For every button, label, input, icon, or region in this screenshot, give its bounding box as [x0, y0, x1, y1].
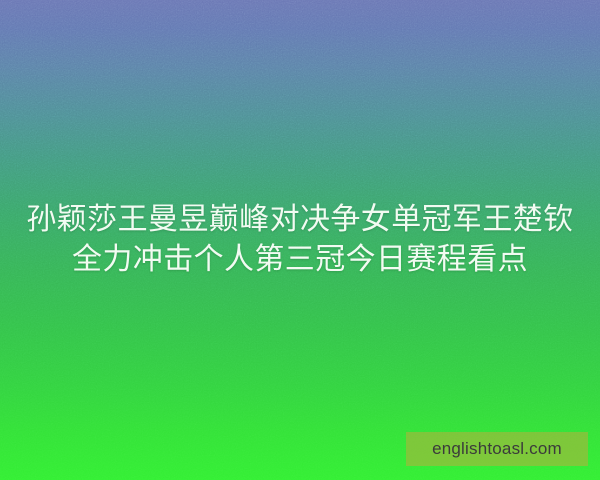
page-title: 孙颖莎王曼昱巅峰对决争女单冠军王楚钦 全力冲击个人第三冠今日赛程看点 [0, 200, 600, 280]
headline-line-1: 孙颖莎王曼昱巅峰对决争女单冠军王楚钦 [0, 200, 600, 240]
watermark-text: englishtoasl.com [432, 439, 562, 459]
headline-line-2: 全力冲击个人第三冠今日赛程看点 [0, 240, 600, 280]
headline-card: 孙颖莎王曼昱巅峰对决争女单冠军王楚钦 全力冲击个人第三冠今日赛程看点 engli… [0, 0, 600, 480]
watermark-badge: englishtoasl.com [406, 432, 588, 466]
